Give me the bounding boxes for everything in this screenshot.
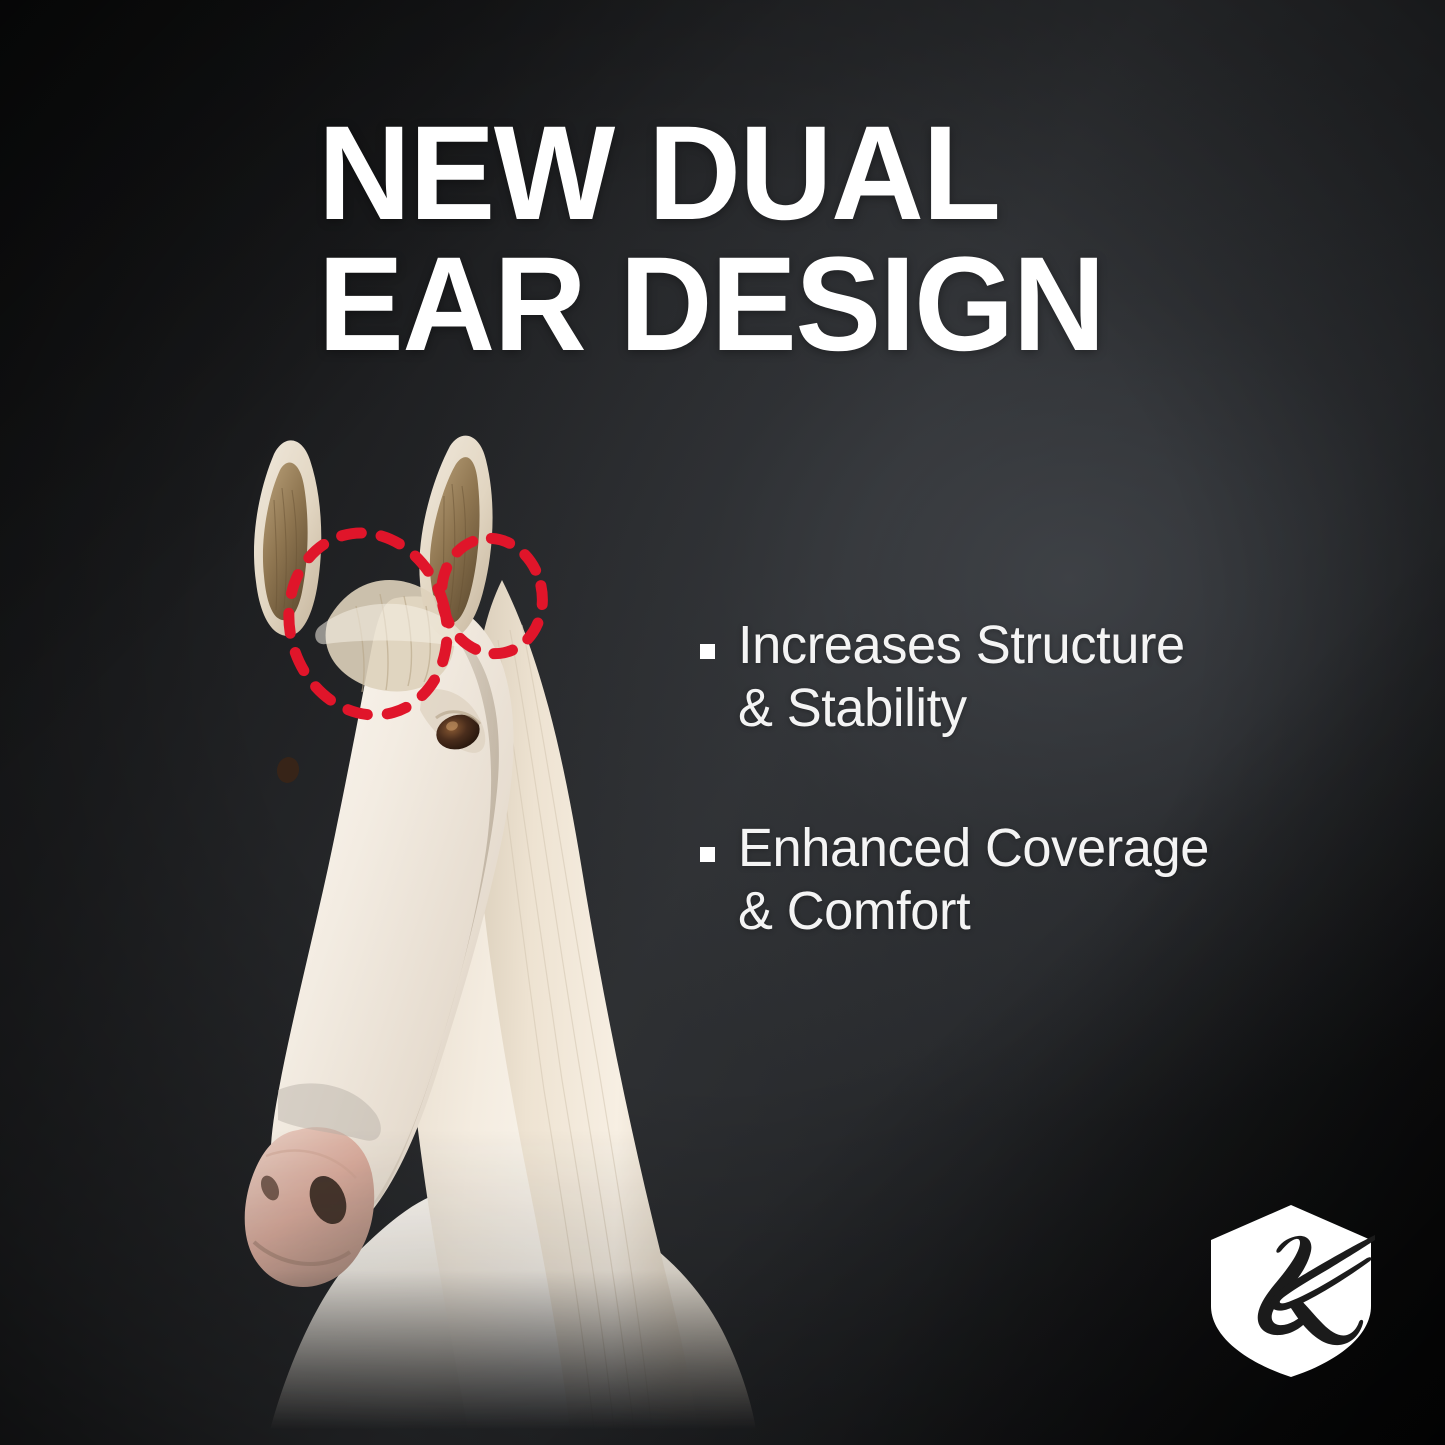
list-item: Enhanced Coverage & Comfort	[700, 817, 1400, 942]
k-shield-icon	[1203, 1202, 1379, 1380]
horse-illustration	[150, 430, 770, 1430]
list-item: Increases Structure & Stability	[700, 614, 1400, 739]
square-bullet-icon	[700, 644, 715, 659]
feature-list: Increases Structure & Stability Enhanced…	[700, 614, 1400, 943]
list-item-line-1: Increases Structure	[738, 615, 1185, 675]
headline-line-2: EAR DESIGN	[318, 239, 1182, 370]
list-item-line-1: Enhanced Coverage	[738, 818, 1209, 878]
page-title: NEW DUAL EAR DESIGN	[318, 108, 1182, 371]
square-bullet-icon	[700, 847, 715, 862]
list-item-line-2: & Stability	[738, 678, 967, 738]
list-item-text: Enhanced Coverage & Comfort	[738, 817, 1209, 942]
list-item-text: Increases Structure & Stability	[738, 614, 1185, 739]
headline-line-1: NEW DUAL	[318, 108, 1182, 239]
brand-logo	[1203, 1202, 1379, 1380]
list-item-line-2: & Comfort	[738, 881, 970, 941]
promo-graphic: NEW DUAL EAR DESIGN	[0, 0, 1445, 1445]
horse-photo	[150, 430, 770, 1430]
